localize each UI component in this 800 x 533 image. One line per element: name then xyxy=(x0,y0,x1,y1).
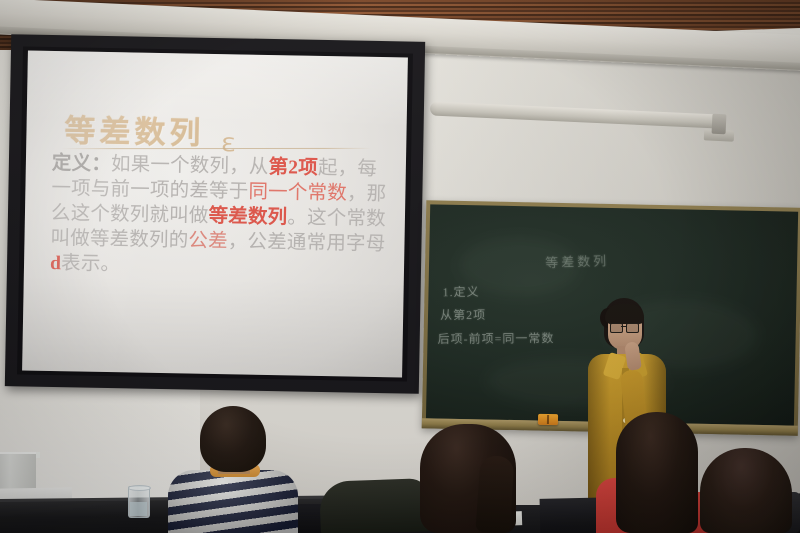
water-glass xyxy=(128,486,150,518)
lens-left xyxy=(610,323,623,333)
blackboard-line-2: 从第2项 xyxy=(440,306,486,323)
student-head xyxy=(200,406,266,472)
student-hair xyxy=(616,412,698,533)
jacket-on-chair xyxy=(319,478,431,533)
presentation-slide: 等差数列 ℇ 定义：如果一个数列，从第2项起，每一项与前一项的差等于同一个常数，… xyxy=(22,51,408,378)
highlight-same-constant: 同一个常数 xyxy=(248,182,347,205)
blackboard-line-3: 后项-前项=同一常数 xyxy=(438,329,555,347)
slide-title: 等差数列 xyxy=(64,105,205,153)
highlight-arithmetic-sequence: 等差数列 xyxy=(208,206,287,228)
eyeglasses-icon xyxy=(610,323,640,331)
highlight-second-term: 第2项 xyxy=(268,157,318,179)
teacher-hand xyxy=(624,341,642,371)
highlight-common-difference: 公差 xyxy=(188,231,228,253)
classroom-photo: 投影幕 等差数列 ℇ 定义：如果一个数列，从第2项起，每一项与前一项的差等于同一… xyxy=(0,0,800,533)
projection-screen: 等差数列 ℇ 定义：如果一个数列，从第2项起，每一项与前一项的差等于同一个常数，… xyxy=(5,34,425,394)
striped-shirt-shading xyxy=(168,470,298,533)
body-segment-5: ，公差通常用字母 xyxy=(228,231,386,255)
title-divider xyxy=(61,148,371,149)
water-level xyxy=(130,502,147,516)
body-segment-6: 表示。 xyxy=(61,253,120,275)
screen-surface: 等差数列 ℇ 定义：如果一个数列，从第2项起，每一项与前一项的差等于同一个常数，… xyxy=(22,51,408,378)
ornament-flourish-icon: ℇ xyxy=(221,134,236,156)
board-eraser-icon xyxy=(538,414,558,425)
blackboard-line-1: 1.定义 xyxy=(442,283,479,301)
definition-label: 定义： xyxy=(52,153,111,175)
student-hair xyxy=(700,448,792,533)
lens-right xyxy=(626,323,639,333)
body-segment-1: 如果一个数列，从 xyxy=(111,154,269,178)
blackboard-heading: 等差数列 xyxy=(545,250,610,271)
highlight-letter-d: d xyxy=(50,253,61,274)
roller-endcap xyxy=(712,114,727,135)
teacher-fringe xyxy=(605,304,644,324)
slide-body-text: 定义：如果一个数列，从第2项起，每一项与前一项的差等于同一个常数，那么这个数列就… xyxy=(50,151,388,282)
student-ponytail xyxy=(475,455,514,533)
glass-rim xyxy=(128,485,151,491)
